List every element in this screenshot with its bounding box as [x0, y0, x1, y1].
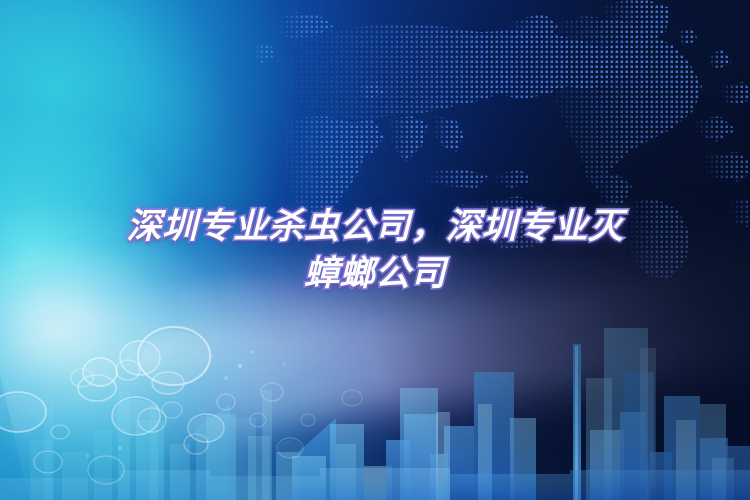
banner-image: 深圳专业杀虫公司，深圳专业灭 蟑螂公司: [0, 0, 750, 500]
headline-line-2: 蟑螂公司: [0, 251, 750, 298]
headline-line-1: 深圳专业杀虫公司，深圳专业灭: [0, 204, 750, 251]
headline-text: 深圳专业杀虫公司，深圳专业灭 蟑螂公司: [0, 204, 750, 298]
